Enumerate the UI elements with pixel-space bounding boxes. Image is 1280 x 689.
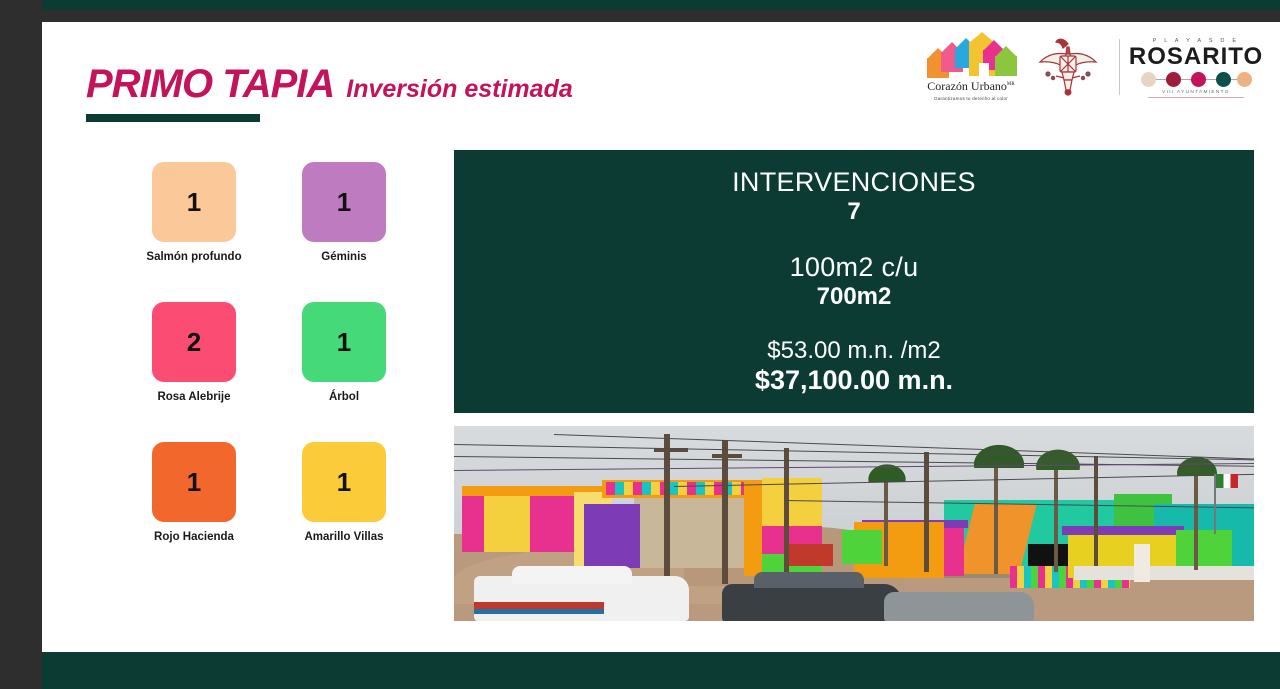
- eagle-emblem-icon: [1033, 32, 1103, 98]
- rosarito-rule: [1148, 97, 1244, 98]
- price-per-m2: $53.00 m.n. /m2: [767, 337, 940, 365]
- swatch-item[interactable]: 1 Árbol: [302, 302, 386, 403]
- swatch-label: Rojo Hacienda: [154, 531, 234, 543]
- logo-divider: [1119, 39, 1120, 95]
- investment-summary-panel: INTERVENCIONES 7 100m2 c/u 700m2 $53.00 …: [454, 150, 1254, 413]
- color-swatch-grid: 1 Salmón profundo 1 Géminis 2 Rosa Alebr…: [152, 162, 432, 582]
- logo-group: Corazón UrbanoMR Garantizamos tu derecho…: [925, 32, 1256, 101]
- houses-icon: [927, 32, 1015, 76]
- screen: PRIMO TAPIA Inversión estimada Corazón U…: [0, 0, 1280, 689]
- swatch-item[interactable]: 1 Rojo Hacienda: [152, 442, 236, 543]
- swatch-color-box: 1: [152, 442, 236, 522]
- swatch-label: Árbol: [329, 391, 359, 403]
- interventions-value: 7: [847, 198, 860, 226]
- corazon-urbano-tagline: Garantizamos tu derecho al color: [934, 96, 1008, 101]
- price-total: $37,100.00 m.n.: [755, 365, 953, 396]
- rosarito-subtitle: VIII AYUNTAMIENTO: [1162, 90, 1230, 95]
- swatch-color-box: 2: [152, 302, 236, 382]
- top-accent-band: [42, 0, 1280, 10]
- slide-canvas: PRIMO TAPIA Inversión estimada Corazón U…: [42, 22, 1280, 652]
- swatch-row: 1 Rojo Hacienda 1 Amarillo Villas: [152, 442, 432, 543]
- swatch-color-box: 1: [302, 302, 386, 382]
- title-underline: [86, 114, 260, 122]
- bottom-accent-band: [42, 652, 1280, 689]
- swatch-label: Amarillo Villas: [304, 531, 383, 543]
- rosarito-wordmark: ROSARITO: [1129, 44, 1263, 69]
- rosarito-dots: [1137, 70, 1255, 88]
- project-photo: [454, 426, 1254, 621]
- area-per-unit: 100m2 c/u: [790, 252, 919, 283]
- trademark-mark: MR: [1007, 82, 1015, 87]
- swatch-item[interactable]: 1 Géminis: [302, 162, 386, 263]
- page-title-block: PRIMO TAPIA Inversión estimada: [86, 64, 573, 122]
- swatch-label: Géminis: [321, 251, 366, 263]
- swatch-item[interactable]: 2 Rosa Alebrije: [152, 302, 236, 403]
- swatch-label: Salmón profundo: [146, 251, 241, 263]
- area-total: 700m2: [817, 283, 892, 311]
- rosarito-logo: P L A Y A S D E ROSARITO VIII AYUNTAMIEN…: [1136, 32, 1256, 98]
- page-subtitle: Inversión estimada: [346, 77, 572, 102]
- swatch-item[interactable]: 1 Amarillo Villas: [302, 442, 386, 543]
- swatch-row: 2 Rosa Alebrije 1 Árbol: [152, 302, 432, 403]
- swatch-item[interactable]: 1 Salmón profundo: [152, 162, 236, 263]
- swatch-color-box: 1: [302, 162, 386, 242]
- corazon-urbano-logo: Corazón UrbanoMR Garantizamos tu derecho…: [925, 32, 1017, 101]
- swatch-color-box: 1: [302, 442, 386, 522]
- swatch-row: 1 Salmón profundo 1 Géminis: [152, 162, 432, 263]
- page-title: PRIMO TAPIA: [86, 64, 334, 104]
- corazon-urbano-name: Corazón UrbanoMR: [927, 79, 1014, 94]
- swatch-label: Rosa Alebrije: [157, 391, 230, 403]
- swatch-color-box: 1: [152, 162, 236, 242]
- interventions-label: INTERVENCIONES: [732, 167, 976, 198]
